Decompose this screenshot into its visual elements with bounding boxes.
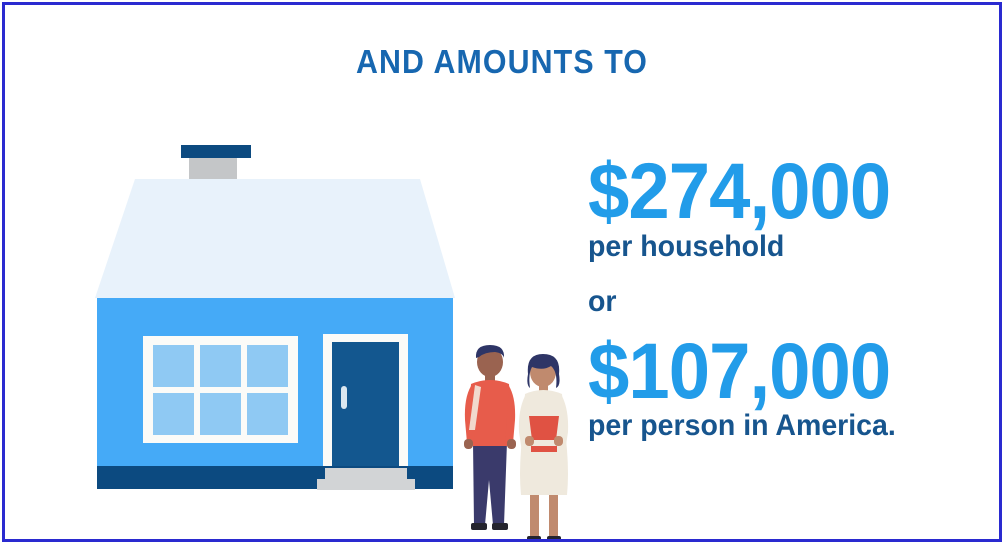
woman-shoe-left [527,536,541,539]
window-pane [153,393,194,435]
man-hand-left [464,439,473,449]
man-pants [473,442,507,525]
stat-amount-person: $107,000 [588,335,964,408]
window-pane [247,345,288,387]
man-shoe-right [492,523,508,530]
statistics-column: $274,000 per household or $107,000 per p… [588,155,988,441]
woman-book [529,416,559,440]
window-pane [247,393,288,435]
person-woman [519,354,568,539]
woman-shoe-right [547,536,561,539]
stat-conjunction: or [588,285,968,319]
door-step-upper [325,468,407,479]
window-pane [200,393,241,435]
house-illustration [85,130,595,539]
woman-hand-right [554,436,563,446]
window-pane [153,345,194,387]
woman-book-strap [531,446,557,452]
people-graphic [455,340,585,539]
roof-shape [95,179,455,298]
infographic-stage: AND AMOUNTS TO [5,5,999,539]
stat-label-household: per household [588,232,968,262]
woman-leg-right [549,490,558,538]
woman-hand-left [525,436,534,446]
stat-amount-household: $274,000 [588,155,964,228]
infographic-canvas: AND AMOUNTS TO [0,0,1006,546]
door-handle-icon[interactable] [341,386,347,409]
chimney-cap-icon [181,145,251,158]
page-title: AND AMOUNTS TO [45,43,959,81]
door-step-lower [317,479,415,490]
person-man [464,345,516,530]
man-shoe-left [471,523,487,530]
man-hand-right [507,439,516,449]
woman-leg-left [530,490,539,538]
window-pane [200,345,241,387]
stat-label-person: per person in America. [588,411,968,441]
